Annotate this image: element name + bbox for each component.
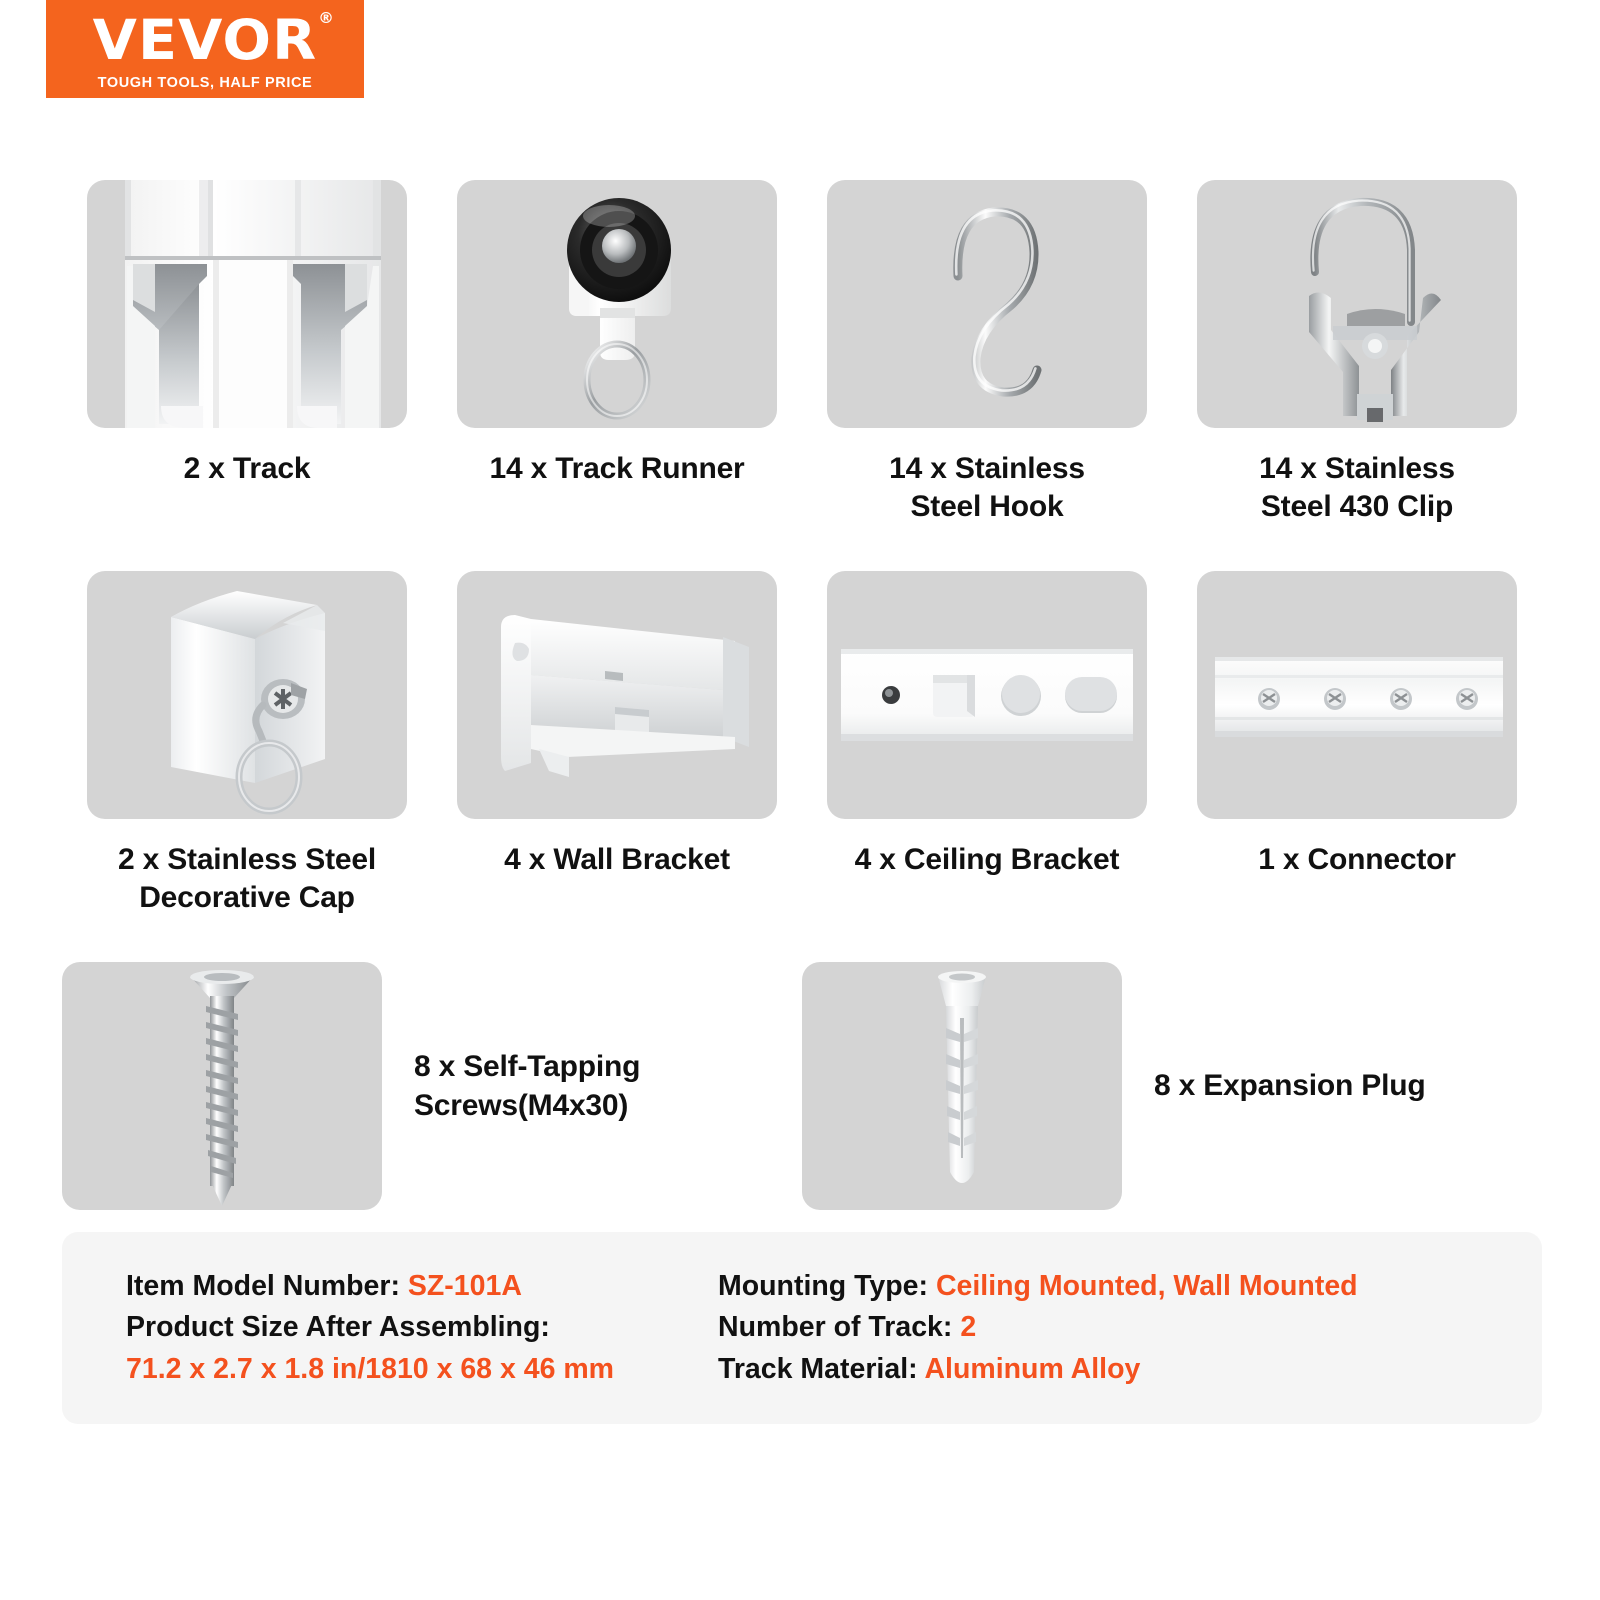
part-caption-line1: 4 x Ceiling Bracket bbox=[855, 843, 1120, 876]
spec-model-number: Item Model Number: SZ-101A bbox=[126, 1266, 692, 1307]
part-cell-track-runner: 14 x Track Runner bbox=[432, 180, 802, 527]
part-cell-expansion-plug: 8 x Expansion Plug bbox=[802, 962, 1542, 1210]
track-runner-icon bbox=[457, 180, 777, 428]
part-thumb bbox=[1197, 571, 1517, 819]
spec-size-value: 71.2 x 2.7 x 1.8 in/1810 x 68 x 46 mm bbox=[126, 1349, 692, 1390]
spec-track-count-label: Number of Track: bbox=[718, 1311, 960, 1343]
wall-bracket-icon bbox=[457, 571, 777, 819]
connector-icon bbox=[1197, 571, 1517, 819]
part-thumb bbox=[802, 962, 1122, 1210]
parts-grid: 2 x Track bbox=[62, 180, 1542, 1210]
spec-column-right: Mounting Type: Ceiling Mounted, Wall Mou… bbox=[692, 1266, 1512, 1424]
part-caption-line1: 14 x Stainless bbox=[1259, 452, 1455, 485]
part-cell-steel-hook: 14 x Stainless Steel Hook bbox=[802, 180, 1172, 527]
part-caption-line2: Decorative Cap bbox=[139, 881, 355, 914]
spec-column-left: Item Model Number: SZ-101A Product Size … bbox=[62, 1266, 692, 1424]
spec-mounting-label: Mounting Type: bbox=[718, 1270, 936, 1302]
part-caption: 14 x Stainless Steel Hook bbox=[822, 450, 1152, 527]
part-caption: 8 x Self-Tapping Screws(M4x30) bbox=[414, 1047, 640, 1125]
part-caption-line2: Steel 430 Clip bbox=[1261, 490, 1453, 523]
part-cell-wall-bracket: 4 x Wall Bracket bbox=[432, 571, 802, 918]
spec-mounting-type: Mounting Type: Ceiling Mounted, Wall Mou… bbox=[718, 1266, 1512, 1307]
part-caption-line1: 8 x Expansion Plug bbox=[1154, 1069, 1425, 1102]
brand-tagline: TOUGH TOOLS, HALF PRICE bbox=[98, 75, 313, 91]
vevor-logo: VEVOR® TOUGH TOOLS, HALF PRICE bbox=[46, 0, 364, 98]
part-thumb bbox=[87, 180, 407, 428]
decorative-cap-icon bbox=[87, 571, 407, 819]
ceiling-bracket-icon bbox=[827, 571, 1147, 819]
part-caption-line1: 2 x Track bbox=[184, 452, 311, 485]
part-cell-steel-clip: 14 x Stainless Steel 430 Clip bbox=[1172, 180, 1542, 527]
part-caption: 4 x Ceiling Bracket bbox=[822, 841, 1152, 879]
brand-name-text: VEVOR bbox=[93, 8, 317, 72]
part-thumb bbox=[62, 962, 382, 1210]
part-caption-line2: Steel Hook bbox=[910, 490, 1063, 523]
spec-product-size: Product Size After Assembling: 71.2 x 2.… bbox=[126, 1307, 692, 1390]
part-caption-line1: 8 x Self-Tapping bbox=[414, 1050, 640, 1083]
brand-name: VEVOR® bbox=[93, 13, 317, 68]
spec-model-value: SZ-101A bbox=[408, 1270, 522, 1302]
part-thumb bbox=[1197, 180, 1517, 428]
spec-material-label: Track Material: bbox=[718, 1353, 924, 1385]
self-tapping-screw-icon bbox=[62, 962, 382, 1210]
part-caption-line1: 14 x Track Runner bbox=[489, 452, 744, 485]
registered-mark: ® bbox=[318, 11, 335, 26]
part-caption-line2: Screws(M4x30) bbox=[414, 1089, 628, 1122]
part-thumb bbox=[87, 571, 407, 819]
parts-row-2: 2 x Stainless Steel Decorative Cap bbox=[62, 571, 1542, 918]
part-caption: 2 x Track bbox=[82, 450, 412, 488]
spec-track-count-value: 2 bbox=[960, 1311, 976, 1343]
part-caption: 2 x Stainless Steel Decorative Cap bbox=[82, 841, 412, 918]
part-cell-track: 2 x Track bbox=[62, 180, 432, 527]
part-caption: 1 x Connector bbox=[1192, 841, 1522, 879]
parts-row-3: 8 x Self-Tapping Screws(M4x30) bbox=[62, 962, 1542, 1210]
expansion-plug-icon bbox=[802, 962, 1122, 1210]
spec-model-label: Item Model Number: bbox=[126, 1270, 408, 1302]
part-caption-line1: 2 x Stainless Steel bbox=[118, 843, 376, 876]
part-thumb bbox=[457, 180, 777, 428]
spec-mounting-value: Ceiling Mounted, Wall Mounted bbox=[936, 1270, 1358, 1302]
part-caption: 8 x Expansion Plug bbox=[1154, 1066, 1425, 1105]
part-thumb bbox=[457, 571, 777, 819]
spec-track-material: Track Material: Aluminum Alloy bbox=[718, 1349, 1512, 1390]
spec-material-value: Aluminum Alloy bbox=[924, 1353, 1140, 1385]
spec-track-count: Number of Track: 2 bbox=[718, 1307, 1512, 1348]
part-caption-line1: 1 x Connector bbox=[1258, 843, 1455, 876]
part-cell-ceiling-bracket: 4 x Ceiling Bracket bbox=[802, 571, 1172, 918]
product-infographic: VEVOR® TOUGH TOOLS, HALF PRICE bbox=[0, 0, 1600, 1600]
part-caption-line1: 4 x Wall Bracket bbox=[504, 843, 730, 876]
part-caption: 14 x Track Runner bbox=[452, 450, 782, 488]
part-cell-decorative-cap: 2 x Stainless Steel Decorative Cap bbox=[62, 571, 432, 918]
part-caption: 4 x Wall Bracket bbox=[452, 841, 782, 879]
spec-size-label: Product Size After Assembling: bbox=[126, 1311, 550, 1343]
part-thumb bbox=[827, 180, 1147, 428]
part-thumb bbox=[827, 571, 1147, 819]
part-caption: 14 x Stainless Steel 430 Clip bbox=[1192, 450, 1522, 527]
parts-row-1: 2 x Track bbox=[62, 180, 1542, 527]
part-cell-connector: 1 x Connector bbox=[1172, 571, 1542, 918]
track-icon bbox=[87, 180, 407, 428]
specifications-panel: Item Model Number: SZ-101A Product Size … bbox=[62, 1232, 1542, 1424]
stainless-steel-hook-icon bbox=[827, 180, 1147, 428]
part-caption-line1: 14 x Stainless bbox=[889, 452, 1085, 485]
stainless-steel-clip-icon bbox=[1197, 180, 1517, 428]
part-cell-self-tapping-screw: 8 x Self-Tapping Screws(M4x30) bbox=[62, 962, 802, 1210]
